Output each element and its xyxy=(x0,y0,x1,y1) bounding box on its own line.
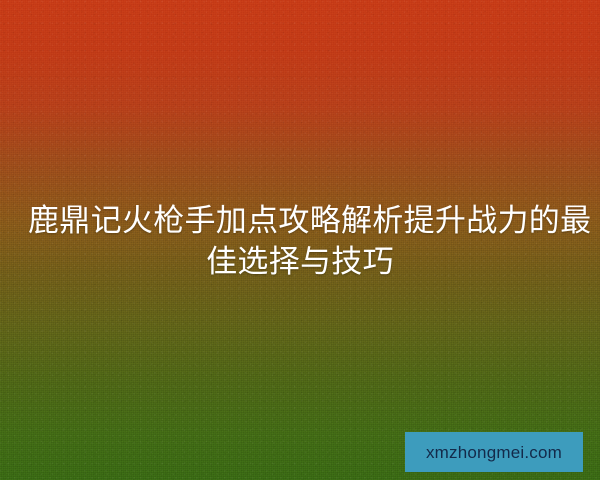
watermark-badge: xmzhongmei.com xyxy=(405,432,583,472)
watermark-domain-text: xmzhongmei.com xyxy=(426,444,562,461)
page-title: 鹿鼎记火枪手加点攻略解析提升战力的最 佳选择与技巧 xyxy=(0,200,600,282)
title-line-1: 鹿鼎记火枪手加点攻略解析提升战力的最 xyxy=(28,200,572,241)
title-card-image: 鹿鼎记火枪手加点攻略解析提升战力的最 佳选择与技巧 xmzhongmei.com xyxy=(0,0,600,480)
title-line-2: 佳选择与技巧 xyxy=(28,241,572,282)
